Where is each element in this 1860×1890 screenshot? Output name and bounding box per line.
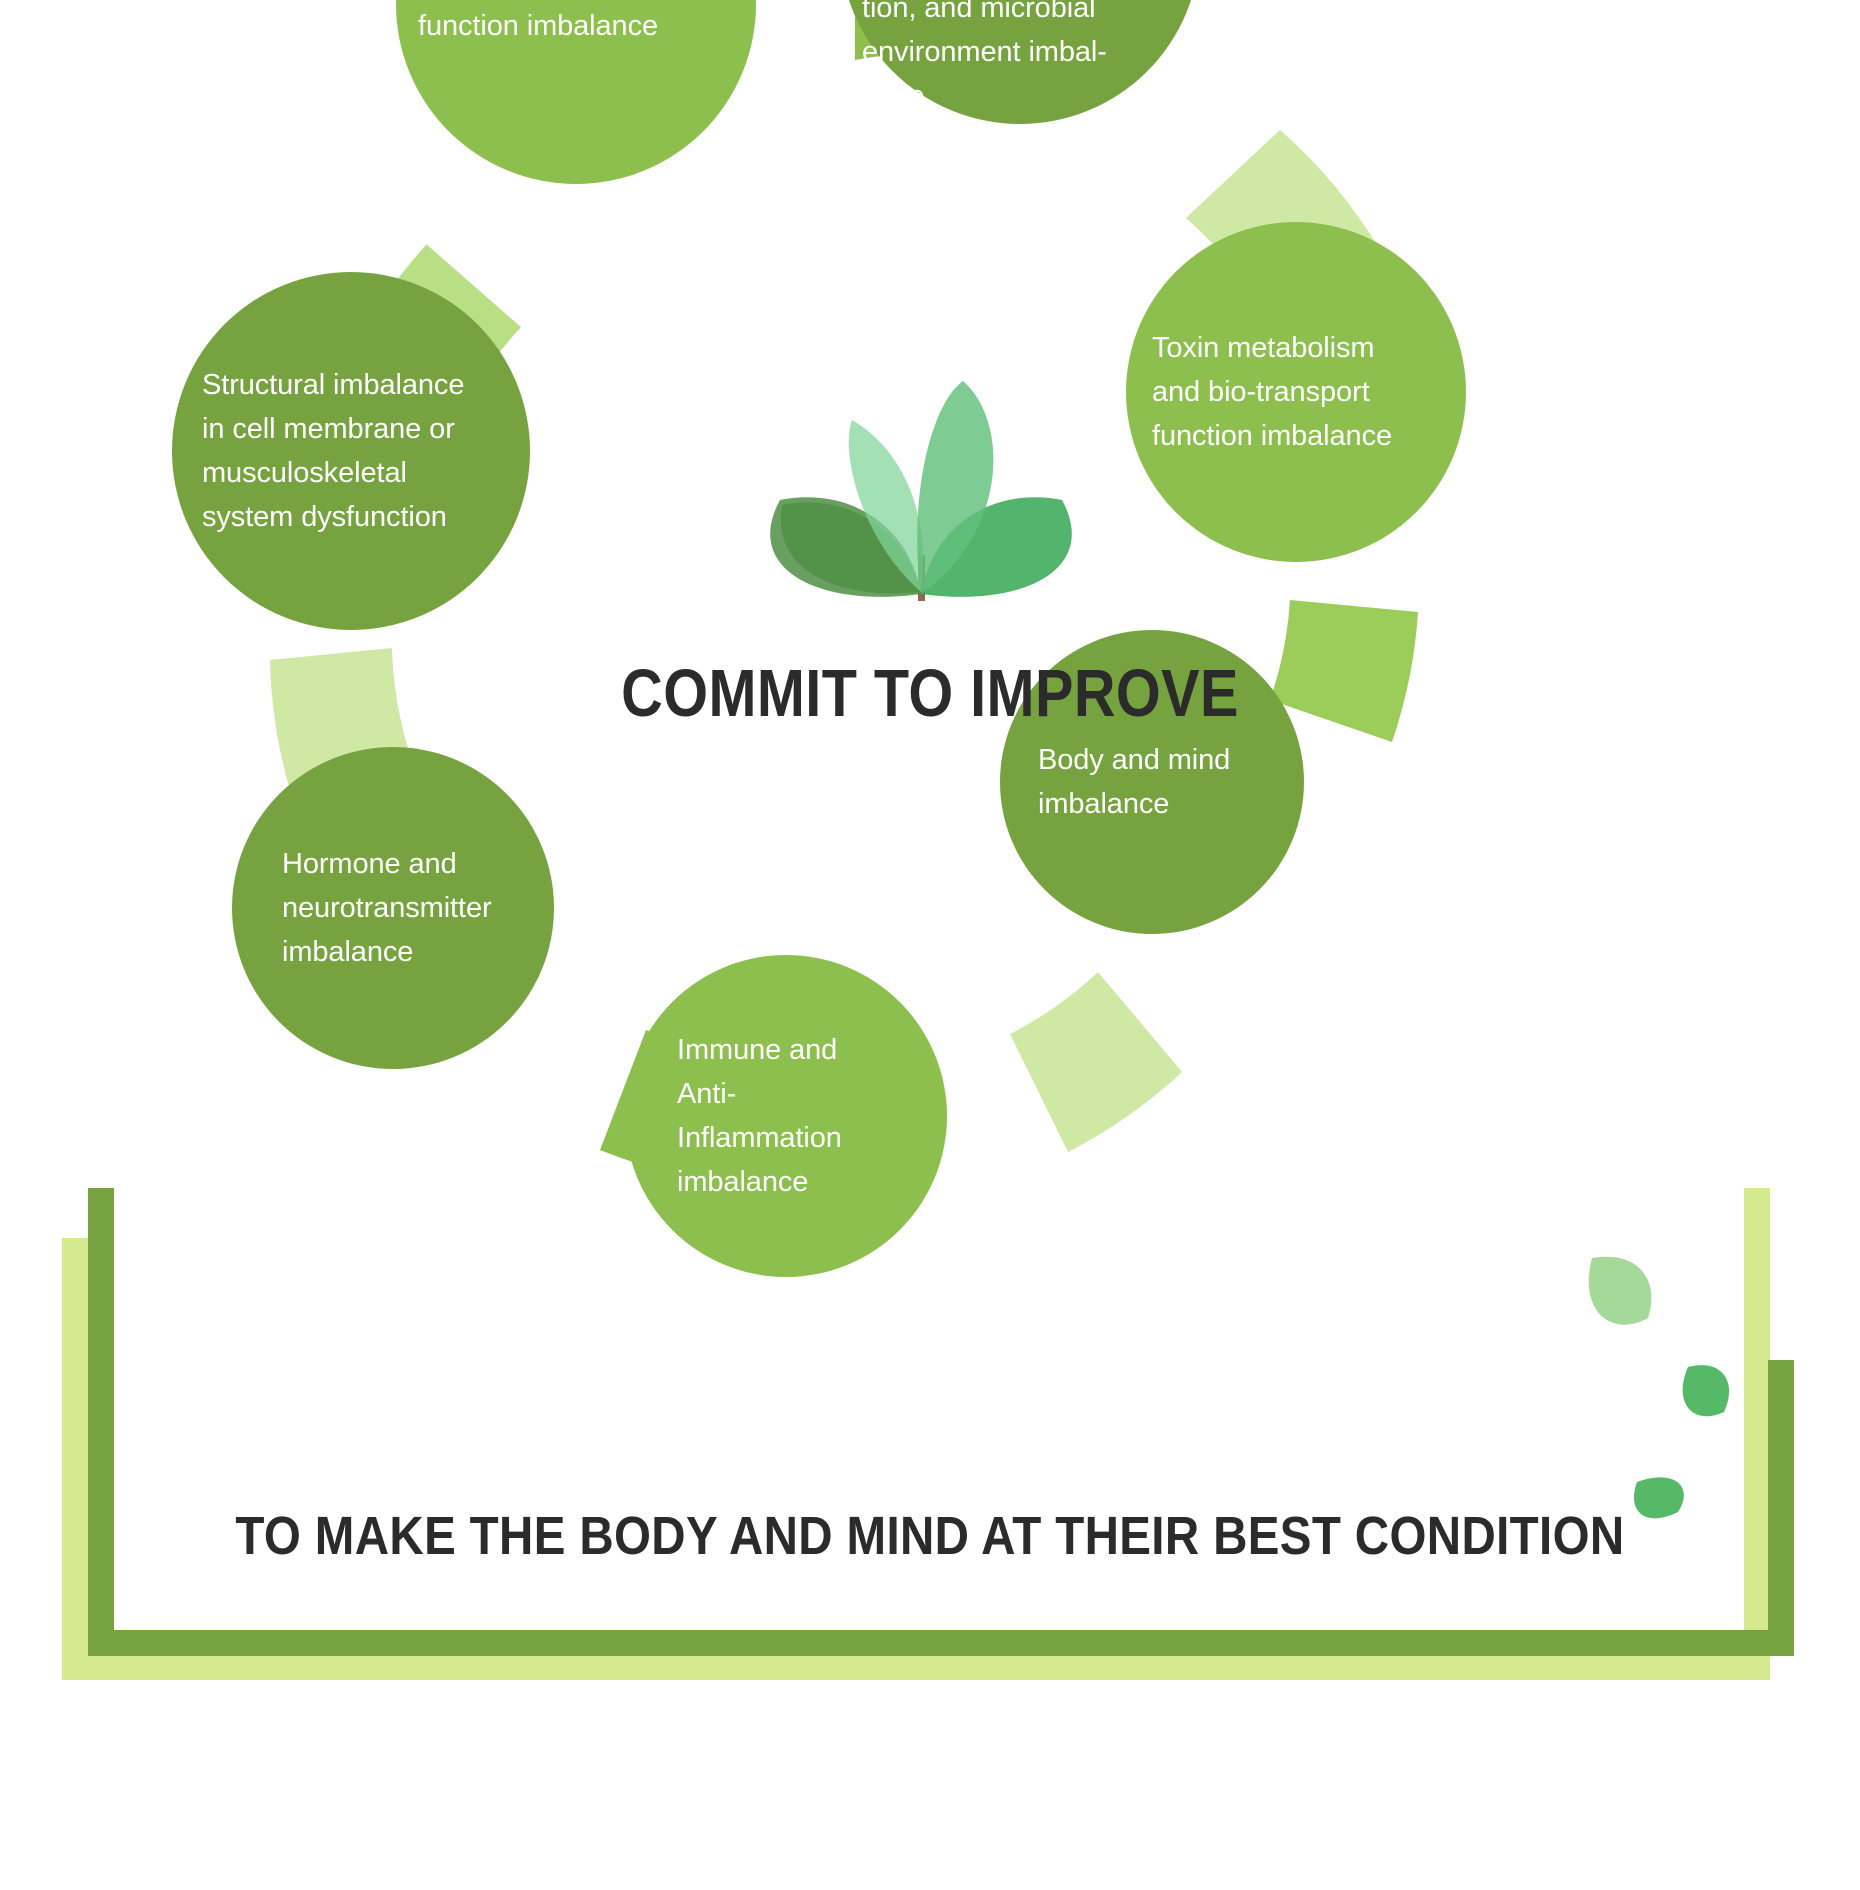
falling-leaf-icon-3 — [1634, 1477, 1684, 1518]
falling-leaf-icon-2 — [1683, 1365, 1729, 1416]
falling-leaf-icon-1 — [1589, 1257, 1652, 1325]
infographic-canvas: and mitochondrial function imbalance tio… — [0, 0, 1860, 1890]
falling-leaves-decor — [0, 0, 1860, 1890]
